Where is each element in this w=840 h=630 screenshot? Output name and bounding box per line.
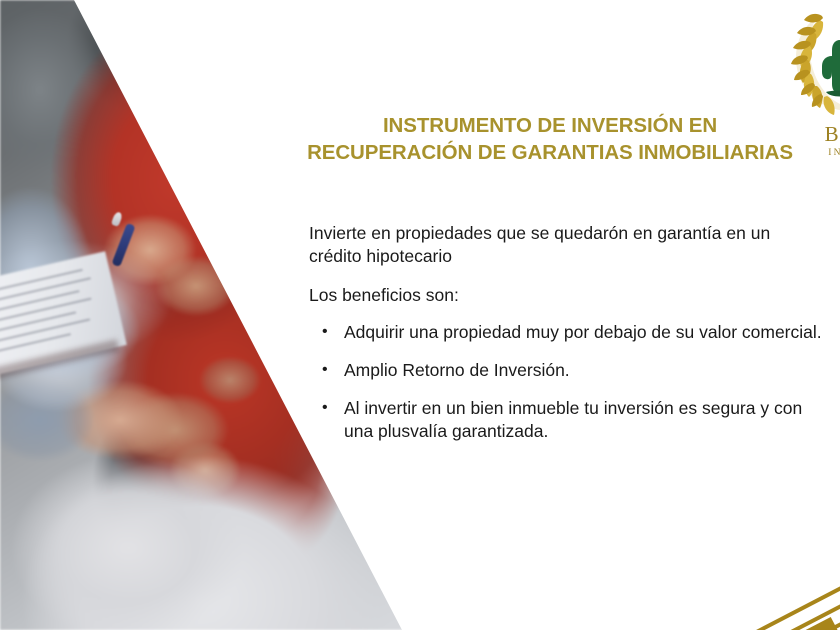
slide-title-line-2: RECUPERACIÓN DE GARANTIAS INMOBILIARIAS bbox=[300, 139, 800, 166]
lead-in-paragraph: Los beneficios son: bbox=[309, 284, 824, 307]
benefits-list: Adquirir una propiedad muy por debajo de… bbox=[309, 321, 824, 443]
gold-accent-line bbox=[692, 566, 840, 630]
company-logo: BE INV bbox=[786, 6, 840, 171]
list-item: Amplio Retorno de Inversión. bbox=[309, 359, 824, 382]
laurel-wreath-icon bbox=[786, 6, 840, 121]
cactus-icon bbox=[822, 40, 840, 97]
gold-accent-line bbox=[559, 620, 840, 630]
list-item: Adquirir una propiedad muy por debajo de… bbox=[309, 321, 824, 344]
logo-wordmark: BE bbox=[786, 122, 840, 147]
slide-title-line-1: INSTRUMENTO DE INVERSIÓN EN bbox=[300, 112, 800, 139]
gold-accent-line bbox=[621, 584, 840, 630]
gold-band-light bbox=[520, 617, 840, 630]
gold-accent-line bbox=[585, 602, 840, 630]
list-item: Al invertir en un bien inmueble tu inver… bbox=[309, 397, 824, 443]
slide-title: INSTRUMENTO DE INVERSIÓN EN RECUPERACIÓN… bbox=[300, 112, 800, 166]
presentation-slide: INSTRUMENTO DE INVERSIÓN EN RECUPERACIÓN… bbox=[0, 0, 840, 630]
logo-tagline: INV bbox=[786, 148, 840, 158]
intro-paragraph: Invierte en propiedades que se quedarón … bbox=[309, 222, 824, 268]
slide-body: Invierte en propiedades que se quedarón … bbox=[309, 222, 824, 458]
